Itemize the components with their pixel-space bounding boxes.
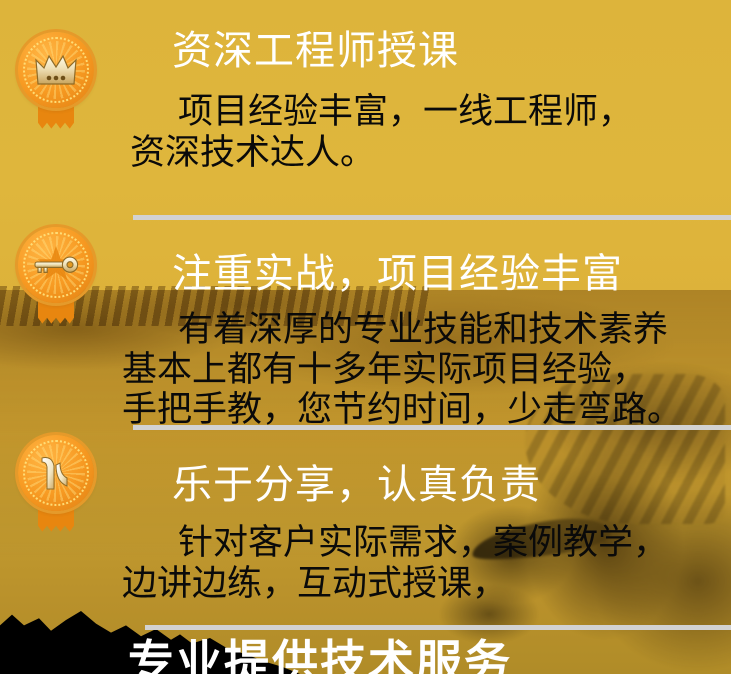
section-2-heading: 注重实战，项目经验丰富 [172, 254, 623, 294]
promo-poster: 资深工程师授课 项目经验丰富，一线工程师， 资深技术达人。 [0, 0, 731, 674]
badge-2 [12, 227, 100, 331]
section-3-line-1: 针对客户实际需求，案例教学， [130, 523, 668, 564]
section-3-heading: 乐于分享，认真负责 [172, 465, 541, 505]
section-1-heading: 资深工程师授课 [172, 31, 459, 71]
section-2-line-2: 基本上都有十多年实际项目经验， [122, 350, 647, 391]
section-1-line-1: 项目经验丰富，一线工程师， [130, 92, 633, 133]
section-1-line-2: 资深技术达人。 [130, 133, 375, 174]
badge-1 [12, 32, 100, 136]
feature-section-1: 资深工程师授课 项目经验丰富，一线工程师， 资深技术达人。 [0, 0, 731, 215]
feature-section-2: 注重实战，项目经验丰富 有着深厚的专业技能和技术素养 基本上都有十多年实际项目经… [0, 215, 731, 425]
feature-section-4-partial: 专业提供技术服务 [0, 625, 731, 674]
footer-cutoff-heading: 专业提供技术服务 [128, 639, 512, 674]
crown-medal-icon [18, 32, 94, 108]
ribbon-medal-icon [18, 435, 94, 511]
section-divider-2 [133, 215, 731, 220]
section-divider-3 [133, 425, 731, 430]
section-divider-4 [145, 625, 731, 630]
section-2-line-1: 有着深厚的专业技能和技术素养 [130, 310, 668, 351]
feature-section-3: 乐于分享，认真负责 针对客户实际需求，案例教学， 边讲边练，互动式授课， [0, 425, 731, 625]
section-3-line-2: 边讲边练，互动式授课， [122, 564, 507, 605]
key-medal-icon [18, 227, 94, 303]
badge-3 [12, 435, 100, 539]
